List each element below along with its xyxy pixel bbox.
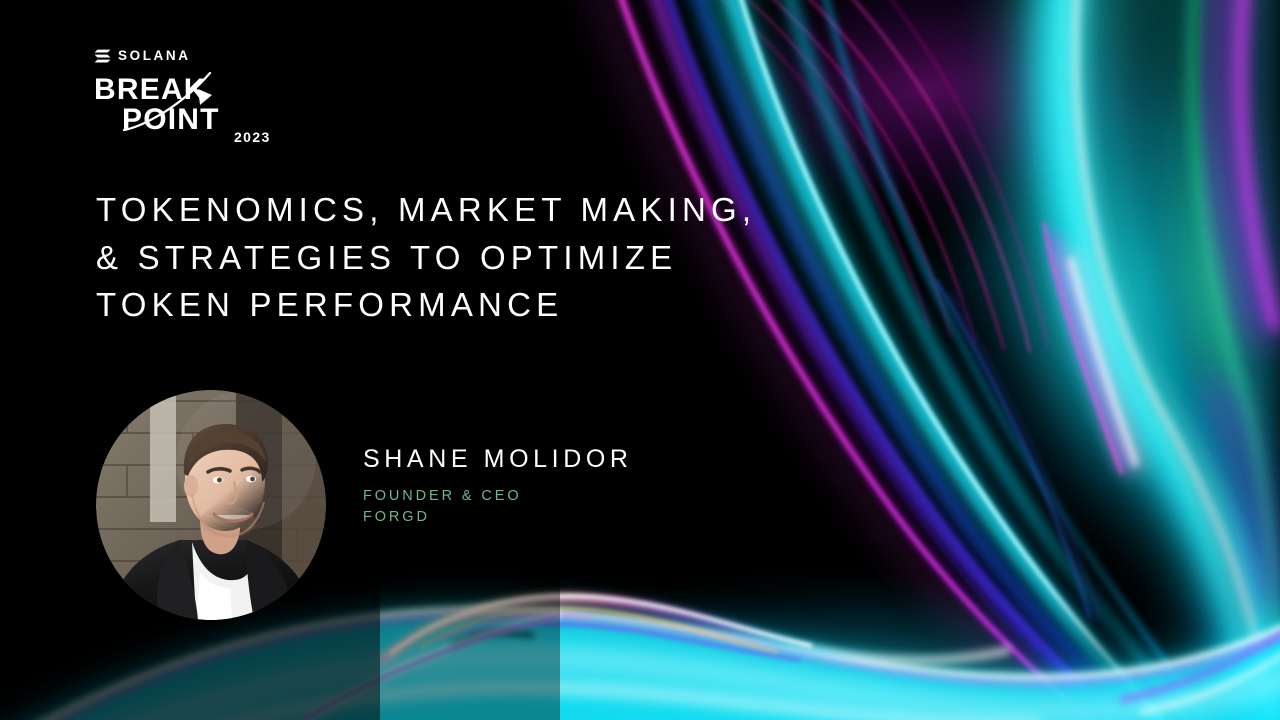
speaker-details: SHANE MOLIDOR FOUNDER & CEO FORGD [363,444,883,528]
breakpoint-year-text: 2023 [234,129,271,143]
speaker-company: FORGD [363,507,883,528]
speaker-portrait-photo [96,390,326,620]
solana-bars-icon [94,49,111,63]
solana-logo-row: SOLANA [94,48,304,64]
solana-wordmark: SOLANA [118,49,191,63]
breakpoint-wordmark: BREAK POINT 2023 [94,71,294,143]
breakpoint-line1-text: BREAK [94,73,207,106]
speaker-role: FOUNDER & CEO [363,486,883,507]
breakpoint-logo: SOLANA BREAK POINT 2023 [94,48,304,140]
session-title: TOKENOMICS, MARKET MAKING, & STRATEGIES … [96,186,916,329]
presentation-slide: SOLANA BREAK POINT 2023 TOKENOMICS, MARK… [0,0,1280,720]
speaker-name: SHANE MOLIDOR [363,444,883,475]
